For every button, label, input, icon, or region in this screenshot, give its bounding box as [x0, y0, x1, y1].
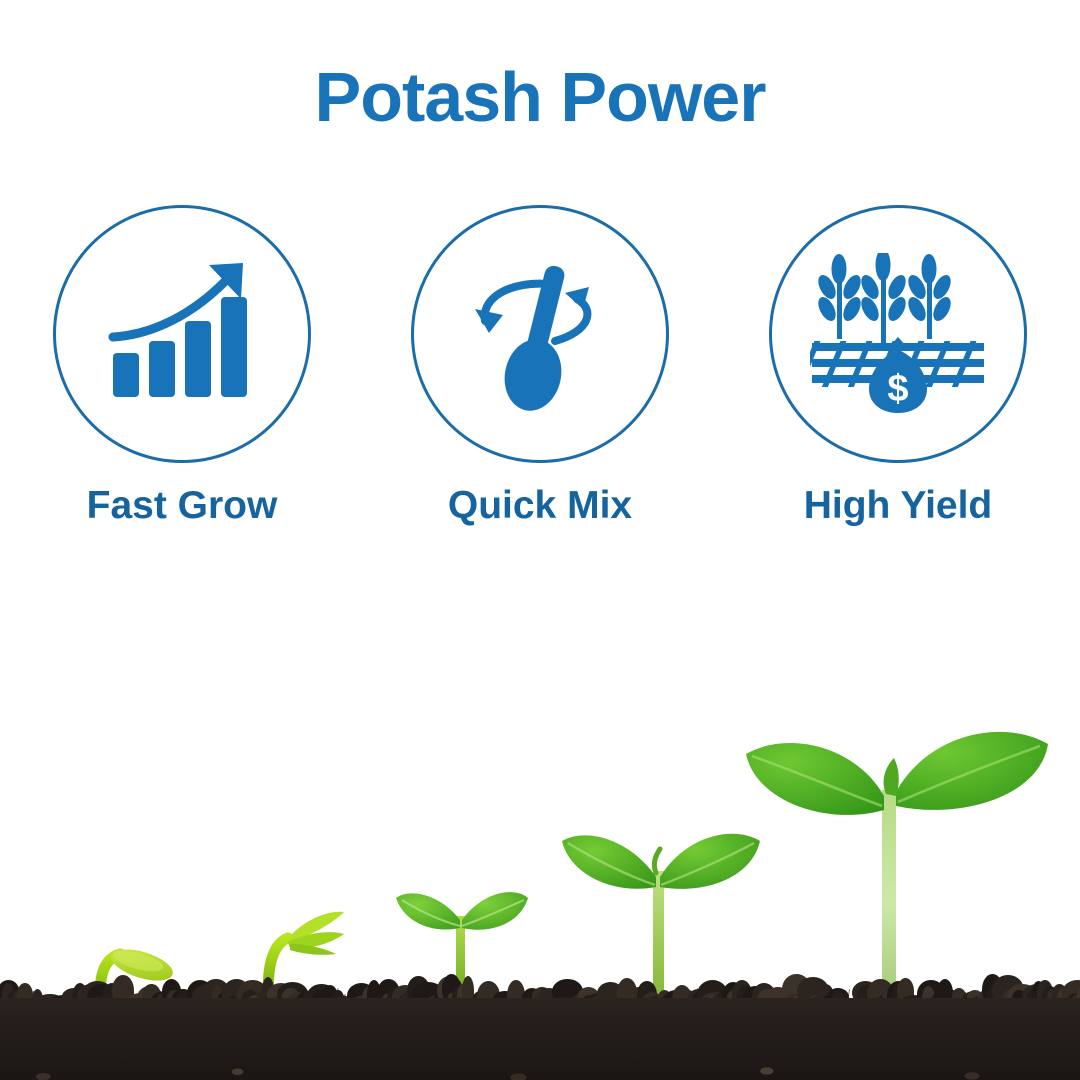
growth-chart-arrow-icon [97, 249, 267, 419]
feature-label-quick-mix: Quick Mix [448, 485, 632, 528]
page-title: Potash Power [0, 62, 1080, 132]
trowel-mixing-arrows-icon [455, 249, 625, 419]
svg-text:$: $ [887, 368, 908, 410]
quick-mix-badge[interactable] [411, 205, 669, 463]
feature-label-fast-grow: Fast Grow [87, 485, 278, 528]
crops-money-bag-icon: $ [810, 253, 986, 415]
soil-bed [0, 998, 1080, 1080]
high-yield-badge[interactable]: $ [769, 205, 1027, 463]
fast-grow-badge[interactable] [53, 205, 311, 463]
plant-growth-scene [0, 660, 1080, 1080]
header: Potash Power [0, 62, 1080, 132]
feature-row: Fast Grow [0, 205, 1080, 555]
plant-stage-5 [730, 704, 1060, 1014]
feature-high-yield[interactable]: $ High Yield [719, 205, 1077, 528]
feature-quick-mix[interactable]: Quick Mix [361, 205, 719, 528]
feature-label-high-yield: High Yield [804, 485, 993, 528]
feature-fast-grow[interactable]: Fast Grow [3, 205, 361, 528]
